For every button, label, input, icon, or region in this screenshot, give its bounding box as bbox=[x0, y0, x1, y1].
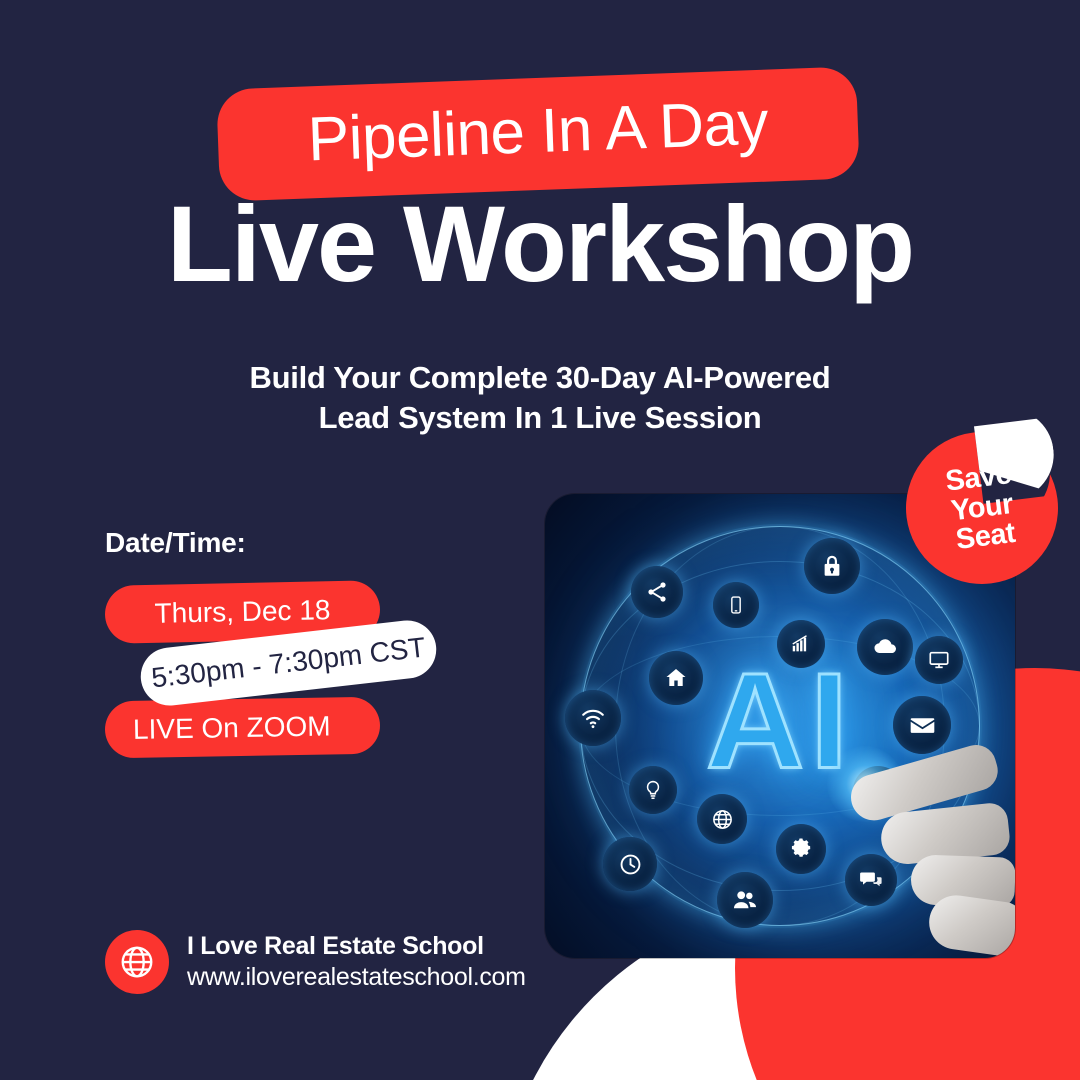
title-badge-label: Pipeline In A Day bbox=[307, 93, 769, 176]
page-title: Live Workshop bbox=[0, 186, 1080, 303]
subtitle-line-1: Build Your Complete 30-Day AI-Powered bbox=[0, 358, 1080, 398]
globe-icon bbox=[697, 794, 747, 844]
date-pill-label: Thurs, Dec 18 bbox=[154, 594, 330, 630]
website-url[interactable]: www.iloverealestateschool.com bbox=[187, 962, 526, 993]
smartphone-icon bbox=[713, 582, 759, 628]
wifi-icon bbox=[565, 690, 621, 746]
brand-name: I Love Real Estate School bbox=[187, 932, 526, 962]
subtitle-line-2: Lead System In 1 Live Session bbox=[0, 398, 1080, 438]
finger bbox=[926, 892, 1015, 958]
hand-illustration bbox=[819, 650, 1015, 950]
promo-poster: AI bbox=[0, 0, 1080, 1080]
footer-texts: I Love Real Estate School www.ilovereale… bbox=[187, 932, 526, 992]
people-icon bbox=[717, 872, 773, 928]
bar-chart-icon bbox=[777, 620, 825, 668]
platform-pill-label: LIVE On ZOOM bbox=[133, 710, 331, 745]
lightbulb-icon bbox=[629, 766, 677, 814]
platform-pill: LIVE On ZOOM bbox=[105, 697, 381, 759]
datetime-label: Date/Time: bbox=[105, 527, 246, 559]
sticker-label: Save Your Seat bbox=[901, 455, 1063, 562]
subtitle: Build Your Complete 30-Day AI-Powered Le… bbox=[0, 358, 1080, 439]
globe-icon bbox=[105, 930, 169, 994]
home-icon bbox=[649, 651, 703, 705]
clock-icon bbox=[603, 837, 657, 891]
share-icon bbox=[631, 566, 683, 618]
footer: I Love Real Estate School www.ilovereale… bbox=[105, 930, 526, 994]
lock-icon bbox=[804, 538, 860, 594]
title-badge: Pipeline In A Day bbox=[216, 66, 860, 201]
save-your-seat-sticker[interactable]: Save Your Seat bbox=[897, 423, 1066, 592]
